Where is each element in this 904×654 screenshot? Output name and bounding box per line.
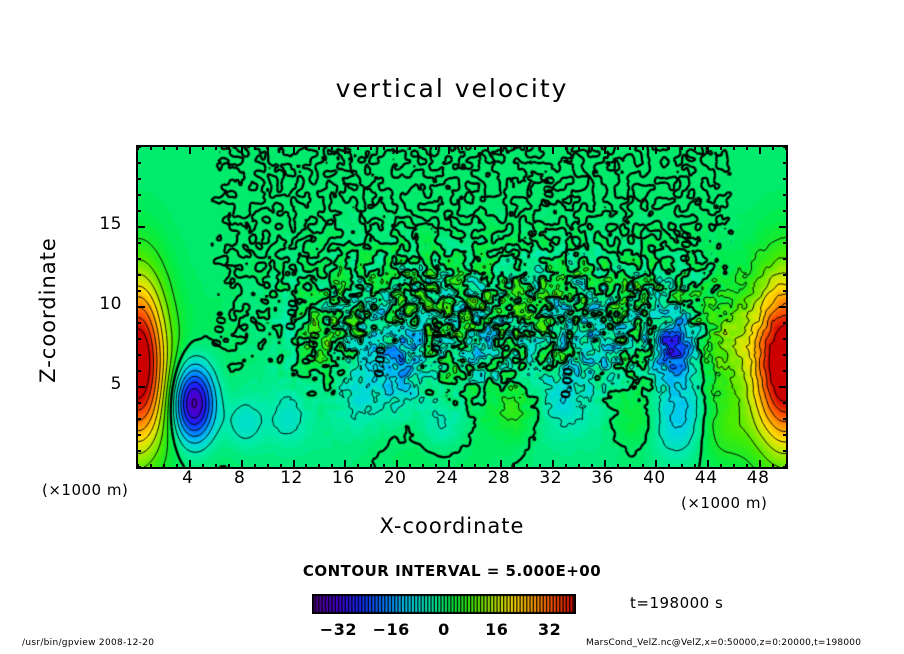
axis-tick	[280, 145, 282, 150]
axis-tick	[344, 145, 346, 154]
axis-tick	[565, 145, 567, 150]
axis-tick	[783, 466, 788, 468]
axis-tick	[539, 145, 541, 150]
axis-tick	[136, 306, 145, 308]
axis-tick	[241, 145, 243, 154]
x-tick-label: 8	[217, 468, 263, 488]
y-axis-title: Z-coordinate	[36, 230, 60, 390]
axis-tick	[228, 145, 230, 150]
axis-tick	[591, 145, 593, 150]
axis-tick	[759, 145, 761, 154]
y-axis-unit-label: (×1000 m)	[42, 481, 128, 499]
axis-tick	[783, 194, 788, 196]
colorbar	[312, 594, 576, 614]
x-tick-label: 12	[269, 468, 315, 488]
x-tick-label: 24	[424, 468, 470, 488]
axis-tick	[435, 145, 437, 150]
axis-tick	[448, 145, 450, 154]
colorbar-tick-label: 16	[475, 620, 519, 639]
axis-tick	[150, 145, 152, 150]
axis-tick	[733, 145, 735, 150]
axis-tick	[629, 145, 631, 150]
axis-tick	[267, 145, 269, 150]
axis-tick	[783, 210, 788, 212]
axis-tick	[136, 434, 141, 436]
axis-tick	[783, 178, 788, 180]
axis-tick	[578, 145, 580, 150]
axis-tick	[136, 386, 145, 388]
axis-tick	[136, 146, 141, 148]
axis-tick	[474, 145, 476, 150]
axis-tick	[617, 145, 619, 150]
axis-tick	[783, 242, 788, 244]
axis-tick	[783, 434, 788, 436]
axis-tick	[136, 322, 141, 324]
axis-tick	[370, 145, 372, 150]
x-tick-label: 40	[631, 468, 677, 488]
x-tick-label: 48	[735, 468, 781, 488]
axis-tick	[772, 145, 774, 150]
y-tick-label: 15	[86, 214, 122, 234]
axis-tick	[500, 145, 502, 154]
axis-tick	[487, 145, 489, 150]
axis-tick	[422, 145, 424, 150]
x-tick-label: 36	[580, 468, 626, 488]
axis-tick	[136, 354, 141, 356]
axis-tick	[136, 242, 141, 244]
x-axis-unit-label: (×1000 m)	[681, 494, 767, 512]
axis-tick	[655, 145, 657, 154]
colorbar-tick-label: 32	[528, 620, 572, 639]
axis-tick	[783, 418, 788, 420]
footer-dataset-label: MarsCond_VelZ.nc@VelZ,x=0:50000,z=0:2000…	[586, 638, 861, 648]
axis-tick	[783, 162, 788, 164]
footer-command-label: /usr/bin/gpview 2008-12-20	[22, 638, 154, 648]
axis-tick	[396, 145, 398, 154]
x-axis-title: X-coordinate	[0, 514, 904, 538]
axis-tick	[136, 402, 141, 404]
colorbar-tick-label: −16	[369, 620, 413, 639]
page-title: vertical velocity	[0, 74, 904, 103]
axis-tick	[136, 418, 141, 420]
axis-tick	[720, 145, 722, 150]
axis-tick	[202, 145, 204, 150]
axis-tick	[604, 145, 606, 154]
time-stamp-label: t=198000 s	[630, 594, 723, 612]
axis-tick	[779, 306, 788, 308]
axis-tick	[383, 145, 385, 150]
axis-tick	[746, 145, 748, 150]
x-tick-label: 4	[165, 468, 211, 488]
gpview-plot-page: vertical velocity 4812162024283236404448…	[0, 0, 904, 654]
x-tick-label: 32	[528, 468, 574, 488]
axis-tick	[136, 370, 141, 372]
colorbar-tick-label: 0	[422, 620, 466, 639]
x-tick-label: 44	[683, 468, 729, 488]
axis-tick	[357, 145, 359, 150]
x-tick-label: 16	[320, 468, 366, 488]
axis-tick	[461, 145, 463, 150]
axis-tick	[783, 370, 788, 372]
axis-tick	[783, 258, 788, 260]
axis-tick	[707, 145, 709, 154]
axis-tick	[136, 178, 141, 180]
x-tick-label: 28	[476, 468, 522, 488]
axis-tick	[150, 464, 152, 469]
axis-tick	[136, 258, 141, 260]
axis-tick	[136, 162, 141, 164]
axis-tick	[779, 386, 788, 388]
axis-tick	[176, 145, 178, 150]
axis-tick	[136, 194, 141, 196]
axis-tick	[136, 290, 141, 292]
axis-tick	[215, 145, 217, 150]
colorbar-tick-label: −32	[316, 620, 360, 639]
contour-interval-label: CONTOUR INTERVAL = 5.000E+00	[0, 562, 904, 580]
axis-tick	[331, 145, 333, 150]
axis-tick	[526, 145, 528, 150]
axis-tick	[552, 145, 554, 154]
axis-tick	[136, 274, 141, 276]
axis-tick	[783, 290, 788, 292]
axis-tick	[409, 145, 411, 150]
axis-tick	[694, 145, 696, 150]
axis-tick	[136, 210, 141, 212]
axis-tick	[783, 354, 788, 356]
axis-tick	[783, 402, 788, 404]
axis-tick	[136, 466, 141, 468]
axis-tick	[163, 145, 165, 150]
axis-tick	[642, 145, 644, 150]
axis-tick	[681, 145, 683, 150]
axis-tick	[136, 450, 141, 452]
y-tick-label: 10	[86, 294, 122, 314]
axis-tick	[293, 145, 295, 154]
contour-field-canvas	[138, 147, 786, 467]
axis-tick	[783, 338, 788, 340]
colorbar-gradient	[312, 594, 576, 614]
axis-tick	[783, 146, 788, 148]
x-tick-label: 20	[372, 468, 418, 488]
axis-tick	[305, 145, 307, 150]
axis-tick	[783, 450, 788, 452]
axis-tick	[783, 322, 788, 324]
axis-tick	[779, 226, 788, 228]
axis-tick	[783, 274, 788, 276]
axis-tick	[318, 145, 320, 150]
y-tick-label: 5	[86, 374, 122, 394]
axis-tick	[189, 145, 191, 154]
axis-tick	[668, 145, 670, 150]
axis-tick	[136, 226, 145, 228]
axis-tick	[136, 338, 141, 340]
axis-tick	[513, 145, 515, 150]
axis-tick	[254, 145, 256, 150]
plot-area	[136, 145, 788, 469]
